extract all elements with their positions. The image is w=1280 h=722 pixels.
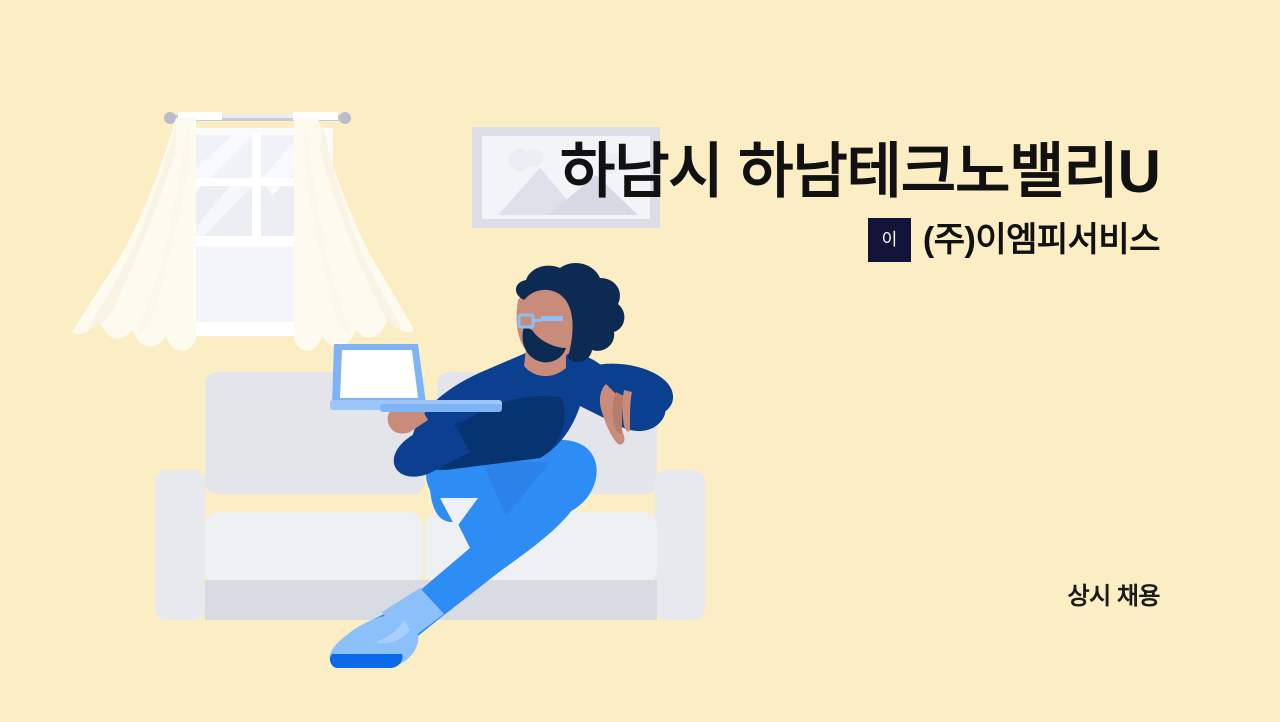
sofa-arm-right (655, 470, 705, 620)
glasses-bridge (533, 319, 541, 322)
hiring-type-label: 상시 채용 (1068, 582, 1161, 612)
person-shoe-sole (330, 654, 403, 668)
curtain-rod-finial-left (164, 112, 176, 124)
company-row: 이 (주)이엠피서비스 (868, 218, 1160, 262)
page-title: 하남시 하남테크노밸리U (60, 136, 1160, 208)
company-badge: 이 (868, 218, 911, 262)
company-name: (주)이엠피서비스 (923, 218, 1160, 262)
curtain-rod-finial-right (339, 112, 351, 124)
sofa-arm-left (155, 470, 205, 620)
glasses-temple (541, 316, 563, 321)
laptop-screen (340, 350, 418, 398)
sofa-seat-left (205, 512, 423, 584)
illustration-person-on-sofa (0, 0, 1280, 722)
laptop-base-front (380, 404, 502, 412)
job-posting-banner: 하남시 하남테크노밸리U 이 (주)이엠피서비스 상시 채용 (0, 0, 1280, 722)
